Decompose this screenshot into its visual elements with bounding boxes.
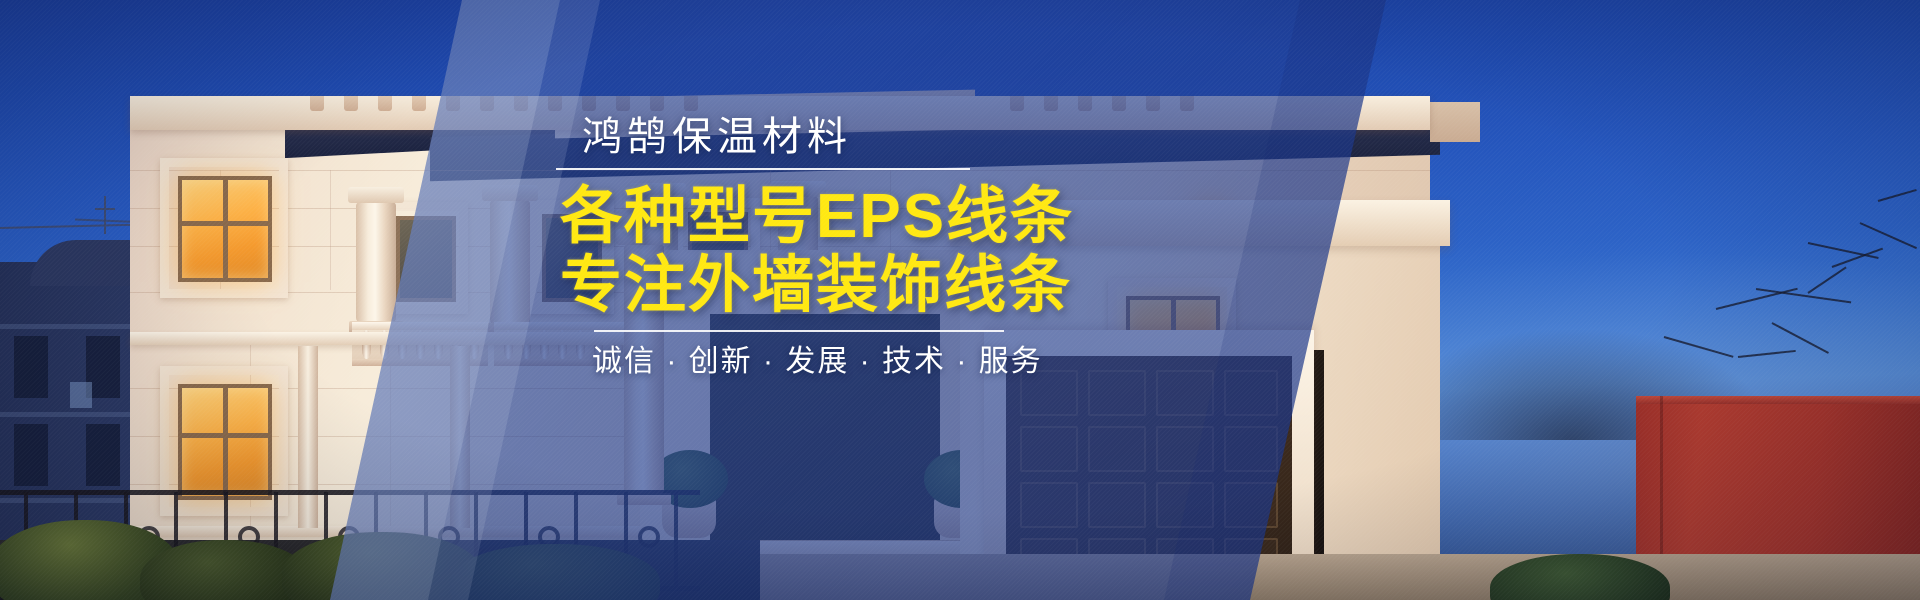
banner-text-block: 鸿鹄保温材料 各种型号EPS线条 专注外墙装饰线条 诚信 · 创新 · 发展 ·… (556, 0, 1316, 600)
promo-banner: 鸿鹄保温材料 各种型号EPS线条 专注外墙装饰线条 诚信 · 创新 · 发展 ·… (0, 0, 1920, 600)
divider-top (556, 168, 970, 170)
column (356, 202, 396, 322)
chimney (1430, 102, 1480, 142)
headline-line-1: 各种型号EPS线条 (560, 182, 1280, 251)
divider-bottom (594, 330, 1004, 332)
lit-window (178, 176, 272, 282)
headline-line-2: 专注外墙装饰线条 (560, 251, 1280, 320)
rooftop-antenna (104, 196, 106, 234)
brand-name: 鸿鹄保温材料 (582, 104, 852, 162)
tagline: 诚信 · 创新 · 发展 · 技术 · 服务 (592, 336, 1043, 380)
headline: 各种型号EPS线条 专注外墙装饰线条 (560, 182, 1280, 321)
